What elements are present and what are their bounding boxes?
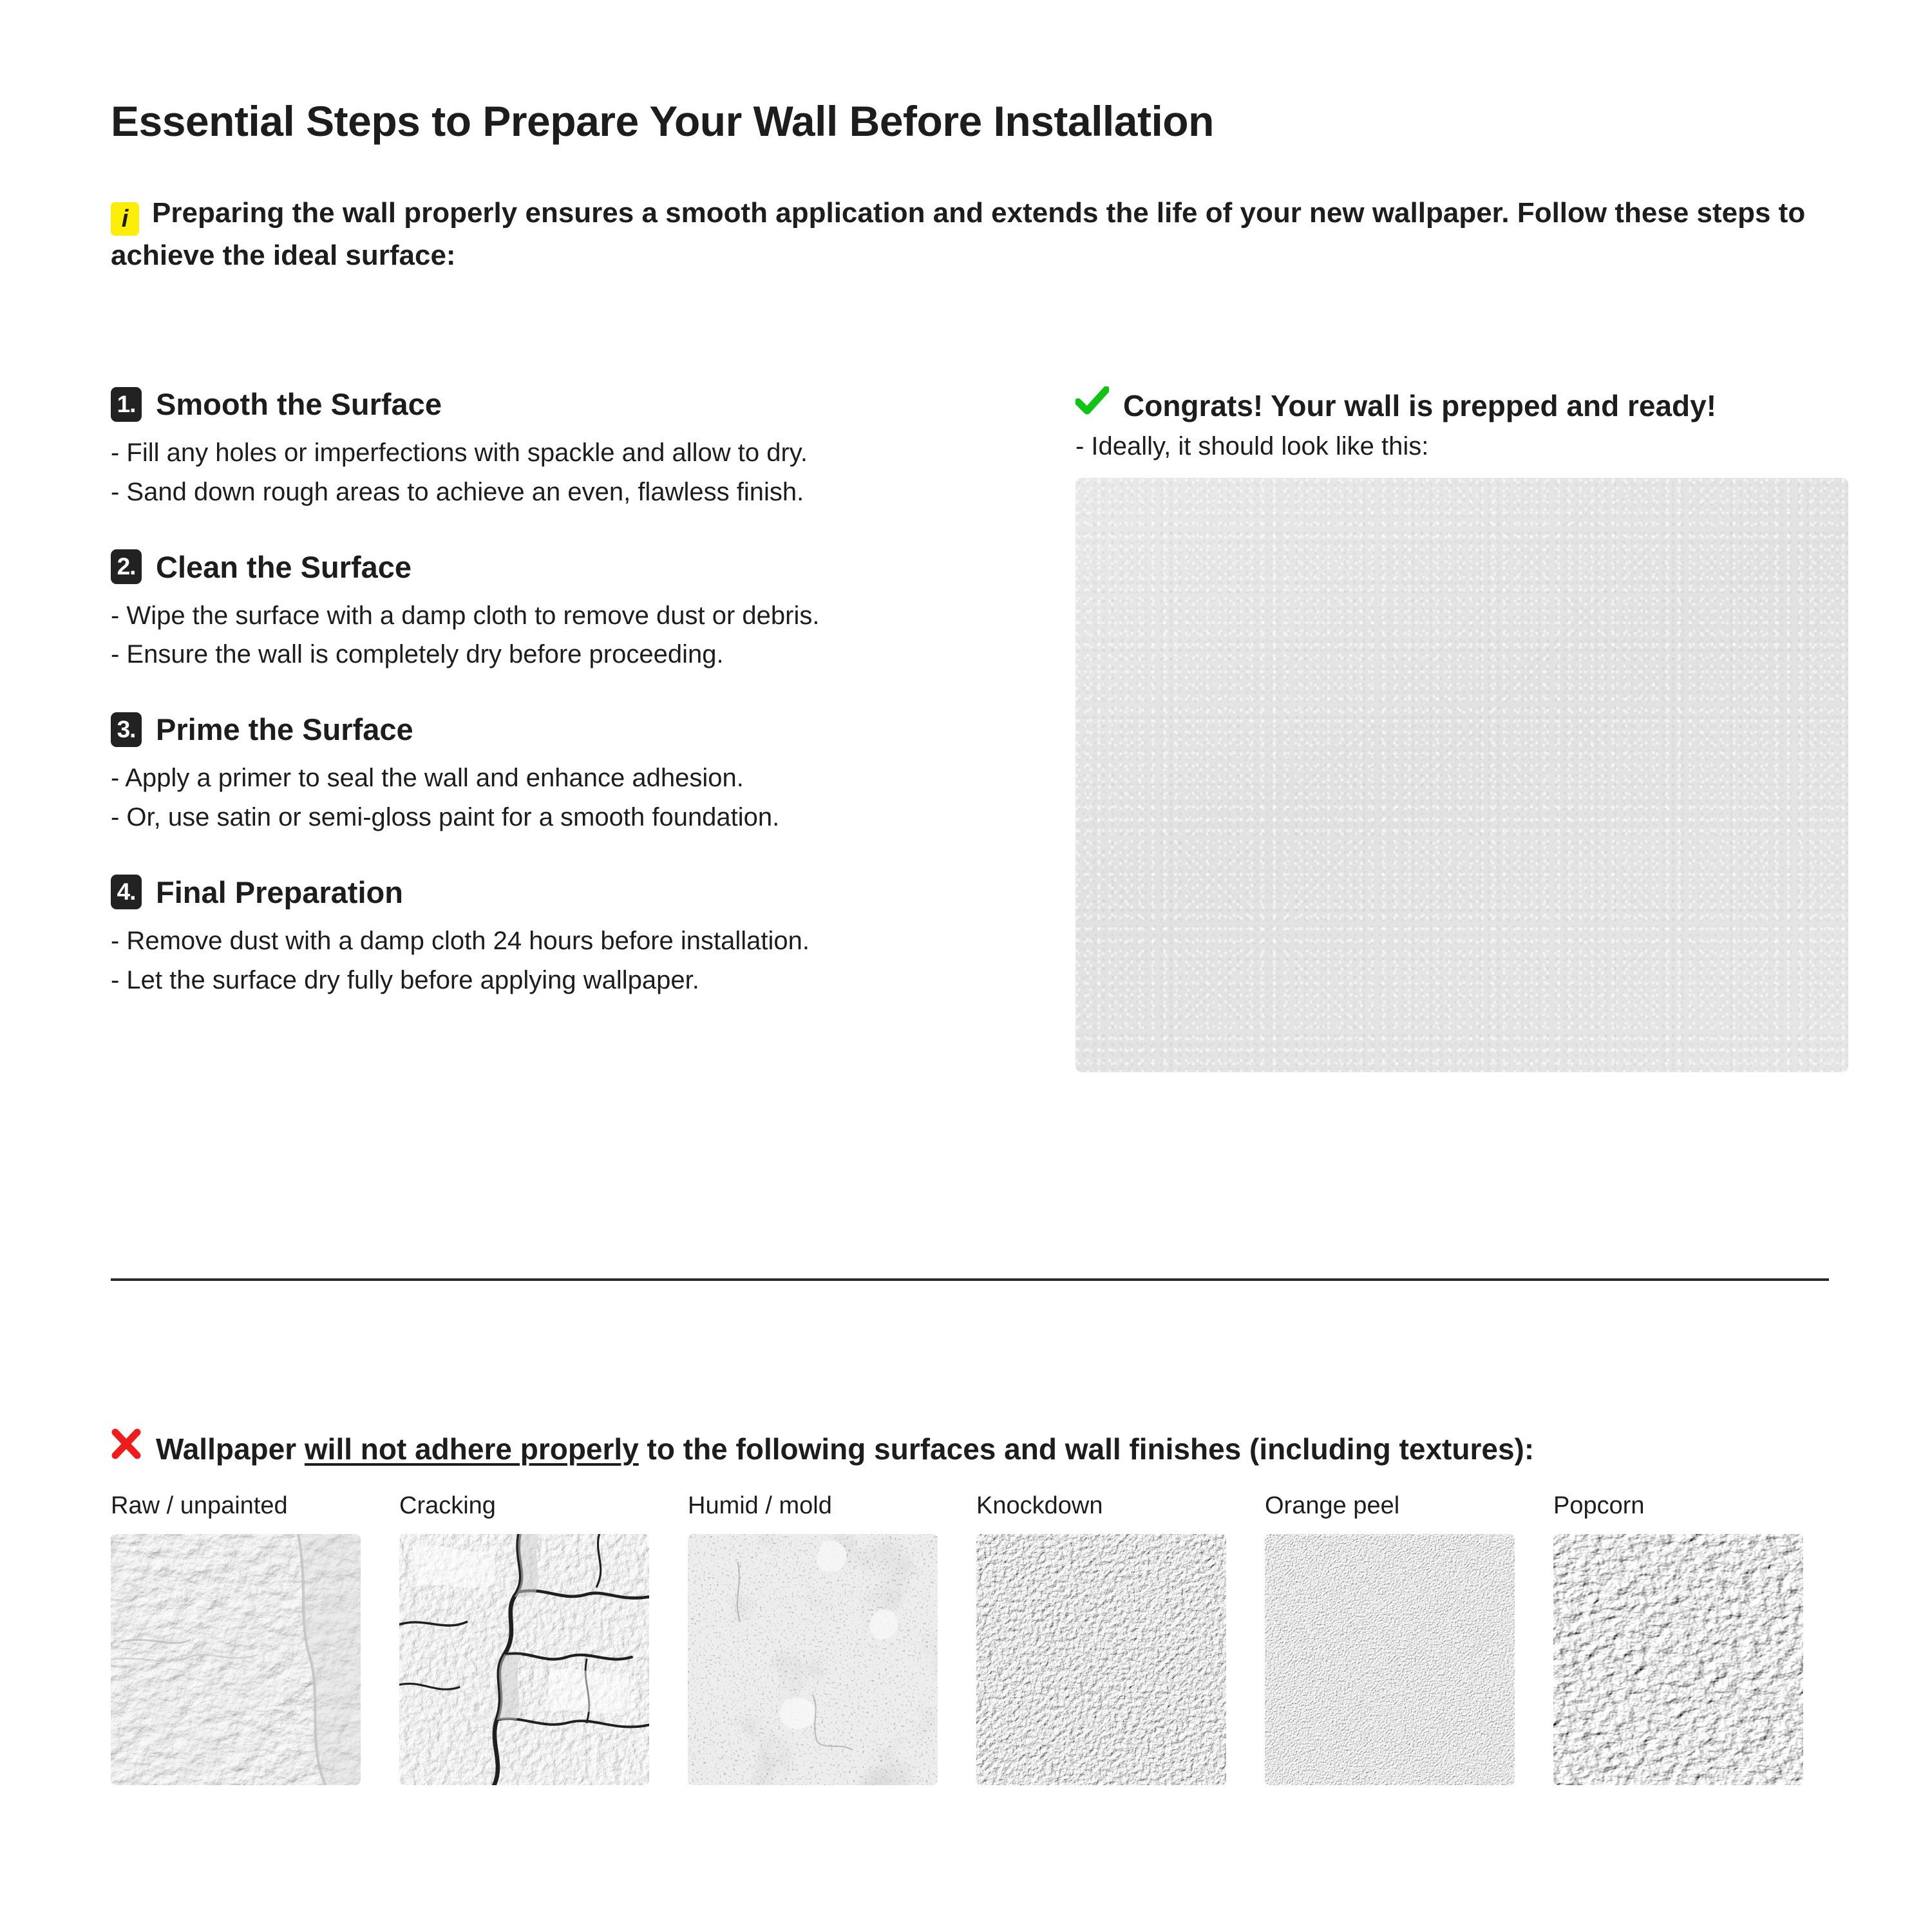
orange-peel-grain-texture-image [1265,1534,1515,1785]
page-title: Essential Steps to Prepare Your Wall Bef… [111,97,1214,146]
check-icon [1075,386,1109,419]
bad-surface-item: Orange peel [1265,1492,1515,1785]
step-detail-line: - Wipe the surface with a damp cloth to … [111,596,1012,636]
bad-surface-label: Popcorn [1553,1492,1803,1520]
knockdown-stipple-texture-image [976,1534,1226,1785]
step-number-badge: 2. [111,549,142,584]
intro-paragraph: iPreparing the wall properly ensures a s… [111,193,1837,276]
section-divider [111,1278,1829,1281]
step-detail-line: - Apply a primer to seal the wall and en… [111,759,1012,798]
heading-part-before: Wallpaper [156,1432,305,1466]
heading-emphasis: will not adhere properly [305,1432,639,1466]
bad-surfaces-heading: Wallpaper will not adhere properly to th… [111,1428,1837,1466]
info-icon: i [111,202,139,236]
bad-surface-item: Knockdown [976,1492,1226,1785]
step-item: 2. Clean the Surface - Wipe the surface … [111,549,1012,675]
ideal-wall-panel: Congrats! Your wall is prepped and ready… [1075,386,1848,1072]
congrats-text: Congrats! Your wall is prepped and ready… [1123,388,1716,423]
step-number-badge: 3. [111,712,142,747]
step-title: Smooth the Surface [156,386,442,422]
bad-surface-label: Raw / unpainted [111,1492,361,1520]
bad-surface-label: Humid / mold [688,1492,938,1520]
bad-surface-item: Humid / mold [688,1492,938,1785]
mold-speckle-texture-image [688,1534,938,1785]
step-header: 1. Smooth the Surface [111,386,1012,422]
bad-surfaces-section: Wallpaper will not adhere properly to th… [111,1428,1837,1785]
bad-surfaces-grid: Raw / unpainted [111,1492,1837,1785]
congrats-row: Congrats! Your wall is prepped and ready… [1075,386,1848,423]
step-detail-line: - Ensure the wall is completely dry befo… [111,635,1012,674]
step-title: Clean the Surface [156,549,412,585]
ideal-wall-image [1075,478,1848,1072]
ideal-caption: - Ideally, it should look like this: [1075,432,1848,461]
wall-prep-infographic: Essential Steps to Prepare Your Wall Bef… [0,0,1932,1932]
step-title: Final Preparation [156,875,403,910]
bad-surface-item: Cracking [399,1492,649,1785]
step-header: 3. Prime the Surface [111,712,1012,747]
x-mark-icon [111,1428,142,1462]
step-title: Prime the Surface [156,712,413,747]
step-header: 4. Final Preparation [111,875,1012,910]
step-item: 3. Prime the Surface - Apply a primer to… [111,712,1012,837]
popcorn-blobs-texture-image [1553,1534,1803,1785]
steps-list: 1. Smooth the Surface - Fill any holes o… [111,386,1012,999]
step-detail-line: - Remove dust with a damp cloth 24 hours… [111,922,1012,961]
bad-surface-label: Cracking [399,1492,649,1520]
cracking-paint-texture-image [399,1534,649,1785]
step-detail-line: - Sand down rough areas to achieve an ev… [111,473,1012,512]
step-header: 2. Clean the Surface [111,549,1012,585]
step-detail-line: - Let the surface dry fully before apply… [111,961,1012,1000]
bad-surface-item: Popcorn [1553,1492,1803,1785]
step-item: 1. Smooth the Surface - Fill any holes o… [111,386,1012,512]
step-detail-line: - Or, use satin or semi-gloss paint for … [111,798,1012,837]
step-detail-line: - Fill any holes or imperfections with s… [111,433,1012,473]
step-number-badge: 1. [111,387,142,422]
bad-surface-item: Raw / unpainted [111,1492,361,1785]
bad-surface-label: Knockdown [976,1492,1226,1520]
intro-text: Preparing the wall properly ensures a sm… [111,197,1805,271]
heading-part-after: to the following surfaces and wall finis… [639,1432,1534,1466]
step-number-badge: 4. [111,875,142,909]
step-item: 4. Final Preparation - Remove dust with … [111,875,1012,1000]
raw-plaster-texture-image [111,1534,361,1785]
bad-surface-label: Orange peel [1265,1492,1515,1520]
bad-surfaces-heading-text: Wallpaper will not adhere properly to th… [156,1432,1534,1466]
